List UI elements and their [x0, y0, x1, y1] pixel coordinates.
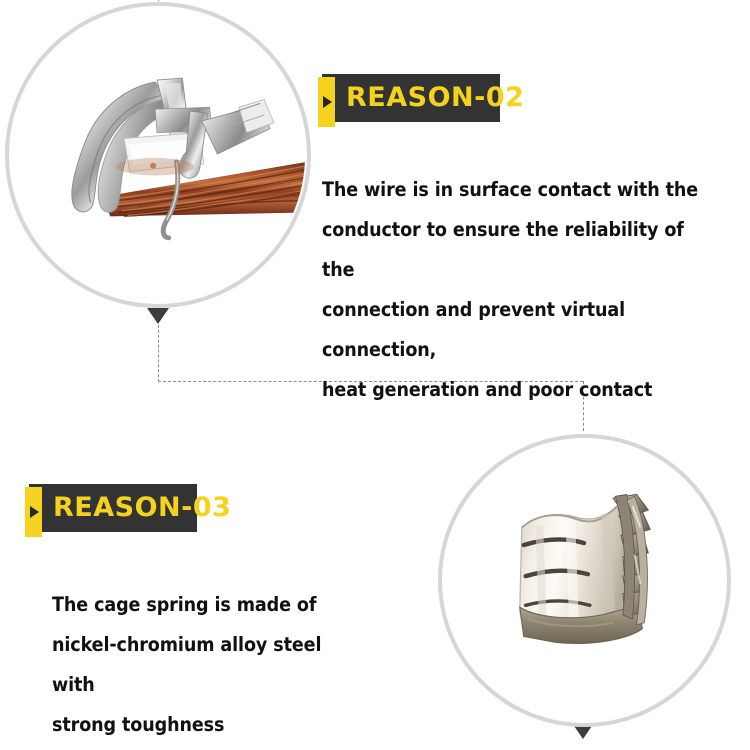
connector-dashed-below-photo-one — [158, 325, 159, 382]
badge-arrow-tab-reason-02 — [318, 77, 335, 127]
badge-label-reason-02: REASON-02 — [346, 74, 524, 122]
cage-spring-illustration — [442, 438, 727, 723]
reasons-infographic: REASON-02 The wire is in surface contact… — [0, 0, 750, 750]
badge-reason-03: REASON-03 — [25, 484, 197, 532]
body-text-reason-02: The wire is in surface contact with the … — [322, 170, 722, 410]
photo-circle-reason-03 — [438, 434, 731, 727]
photo-reason-02-clamp-on-copper-wire — [9, 6, 307, 304]
body-text-reason-03: The cage spring is made of nickel-chromi… — [52, 585, 362, 745]
photo-circle-reason-02 — [5, 2, 311, 308]
badge-label-reason-03: REASON-03 — [53, 484, 231, 532]
clamp-copper-wire-illustration — [9, 6, 307, 304]
play-triangle-icon — [30, 506, 39, 518]
play-triangle-icon — [323, 96, 332, 108]
badge-arrow-tab-reason-03 — [25, 487, 42, 537]
triangle-down-marker-photo-one-icon — [147, 308, 169, 324]
badge-reason-02: REASON-02 — [318, 74, 500, 122]
photo-reason-03-cage-spring — [442, 438, 727, 723]
